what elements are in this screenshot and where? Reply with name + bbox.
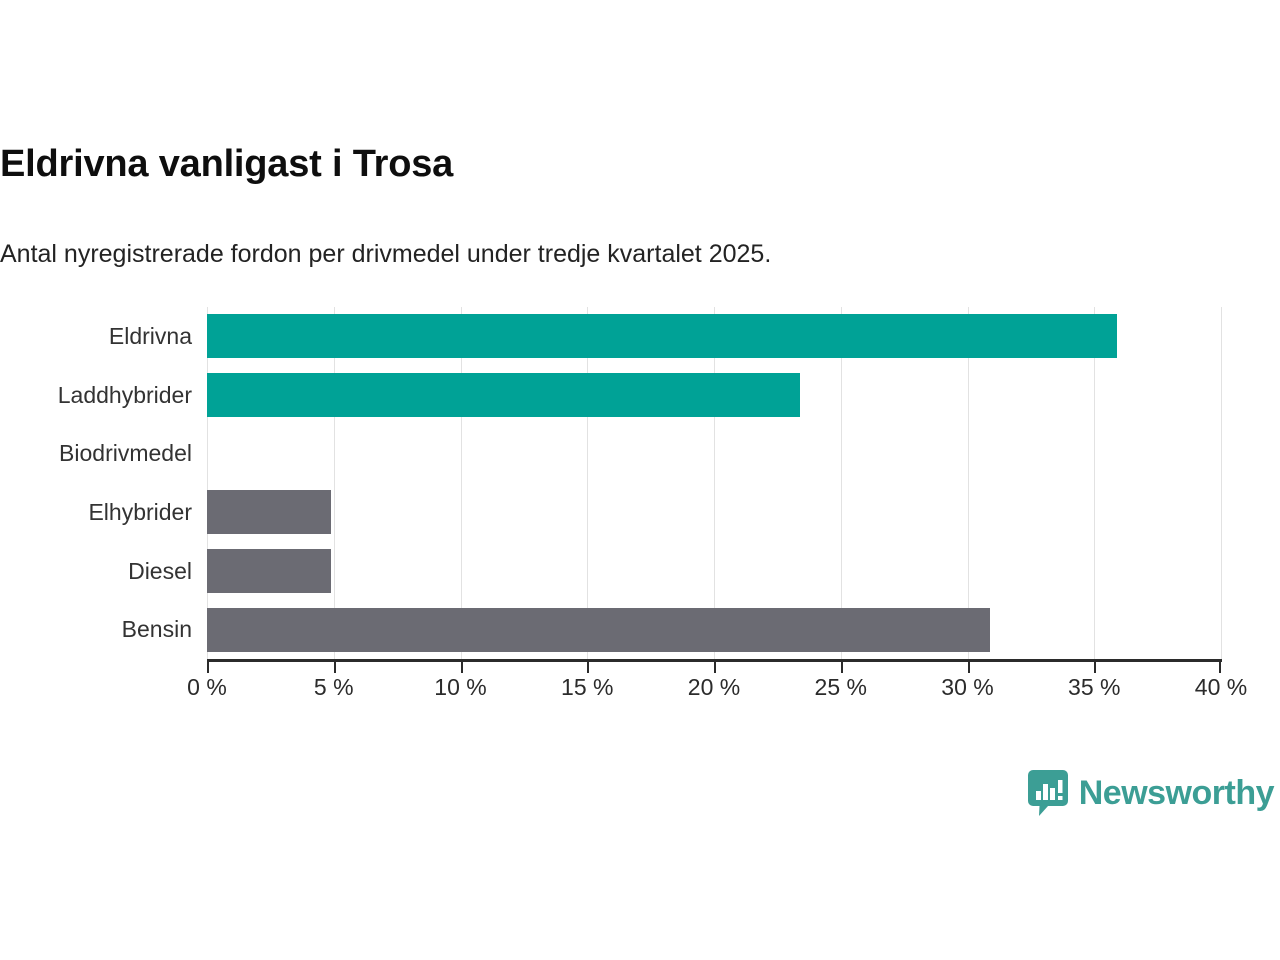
bar[interactable]	[207, 314, 1117, 358]
y-axis-label: Laddhybrider	[0, 366, 192, 425]
x-axis-tick-labels: 0 %5 %10 %15 %20 %25 %30 %35 %40 %	[207, 674, 1222, 708]
page-title: Eldrivna vanligast i Trosa	[0, 144, 453, 186]
x-axis-tick-label: 25 %	[815, 674, 867, 701]
chart-page: Eldrivna vanligast i Trosa Antal nyregis…	[0, 0, 1280, 960]
x-axis-tick-label: 15 %	[561, 674, 613, 701]
x-axis-ticks	[207, 662, 1222, 674]
x-axis-tick-label: 30 %	[941, 674, 993, 701]
chart-plot-wrapper: EldrivnaLaddhybriderBiodrivmedelElhybrid…	[0, 300, 1280, 720]
y-axis-label: Bensin	[0, 600, 192, 659]
bar-row	[207, 483, 1221, 542]
x-axis-tick	[714, 662, 716, 673]
newsworthy-logo[interactable]: Newsworthy	[1028, 770, 1274, 816]
x-axis-tick	[1094, 662, 1096, 673]
bar-series	[207, 307, 1221, 659]
bar[interactable]	[207, 608, 990, 652]
bar-row	[207, 366, 1221, 425]
bar-row	[207, 424, 1221, 483]
plot-area	[207, 307, 1221, 659]
y-axis-label: Diesel	[0, 542, 192, 601]
x-axis-tick	[207, 662, 209, 673]
x-axis-tick-label: 5 %	[314, 674, 354, 701]
x-axis-tick-label: 20 %	[688, 674, 740, 701]
bar[interactable]	[207, 549, 331, 593]
x-axis-tick-label: 10 %	[434, 674, 486, 701]
chart-subtitle: Antal nyregistrerade fordon per drivmede…	[0, 240, 771, 269]
bar-row	[207, 542, 1221, 601]
x-axis-tick	[1219, 662, 1221, 673]
x-axis-tick	[968, 662, 970, 673]
bar-row	[207, 307, 1221, 366]
x-axis-tick	[461, 662, 463, 673]
y-axis-label: Elhybrider	[0, 483, 192, 542]
bar-row	[207, 600, 1221, 659]
x-axis-tick-label: 0 %	[187, 674, 227, 701]
gridline	[1221, 307, 1222, 659]
x-axis-tick-label: 40 %	[1195, 674, 1247, 701]
newsworthy-logo-text: Newsworthy	[1079, 776, 1274, 810]
newsworthy-bar-chart-bubble-icon	[1028, 770, 1068, 816]
x-axis-tick	[334, 662, 336, 673]
x-axis-tick-label: 35 %	[1068, 674, 1120, 701]
y-axis-category-labels: EldrivnaLaddhybriderBiodrivmedelElhybrid…	[0, 307, 192, 659]
bar[interactable]	[207, 490, 331, 534]
y-axis-label: Biodrivmedel	[0, 424, 192, 483]
y-axis-label: Eldrivna	[0, 307, 192, 366]
x-axis-tick	[841, 662, 843, 673]
bar[interactable]	[207, 373, 800, 417]
x-axis-tick	[587, 662, 589, 673]
